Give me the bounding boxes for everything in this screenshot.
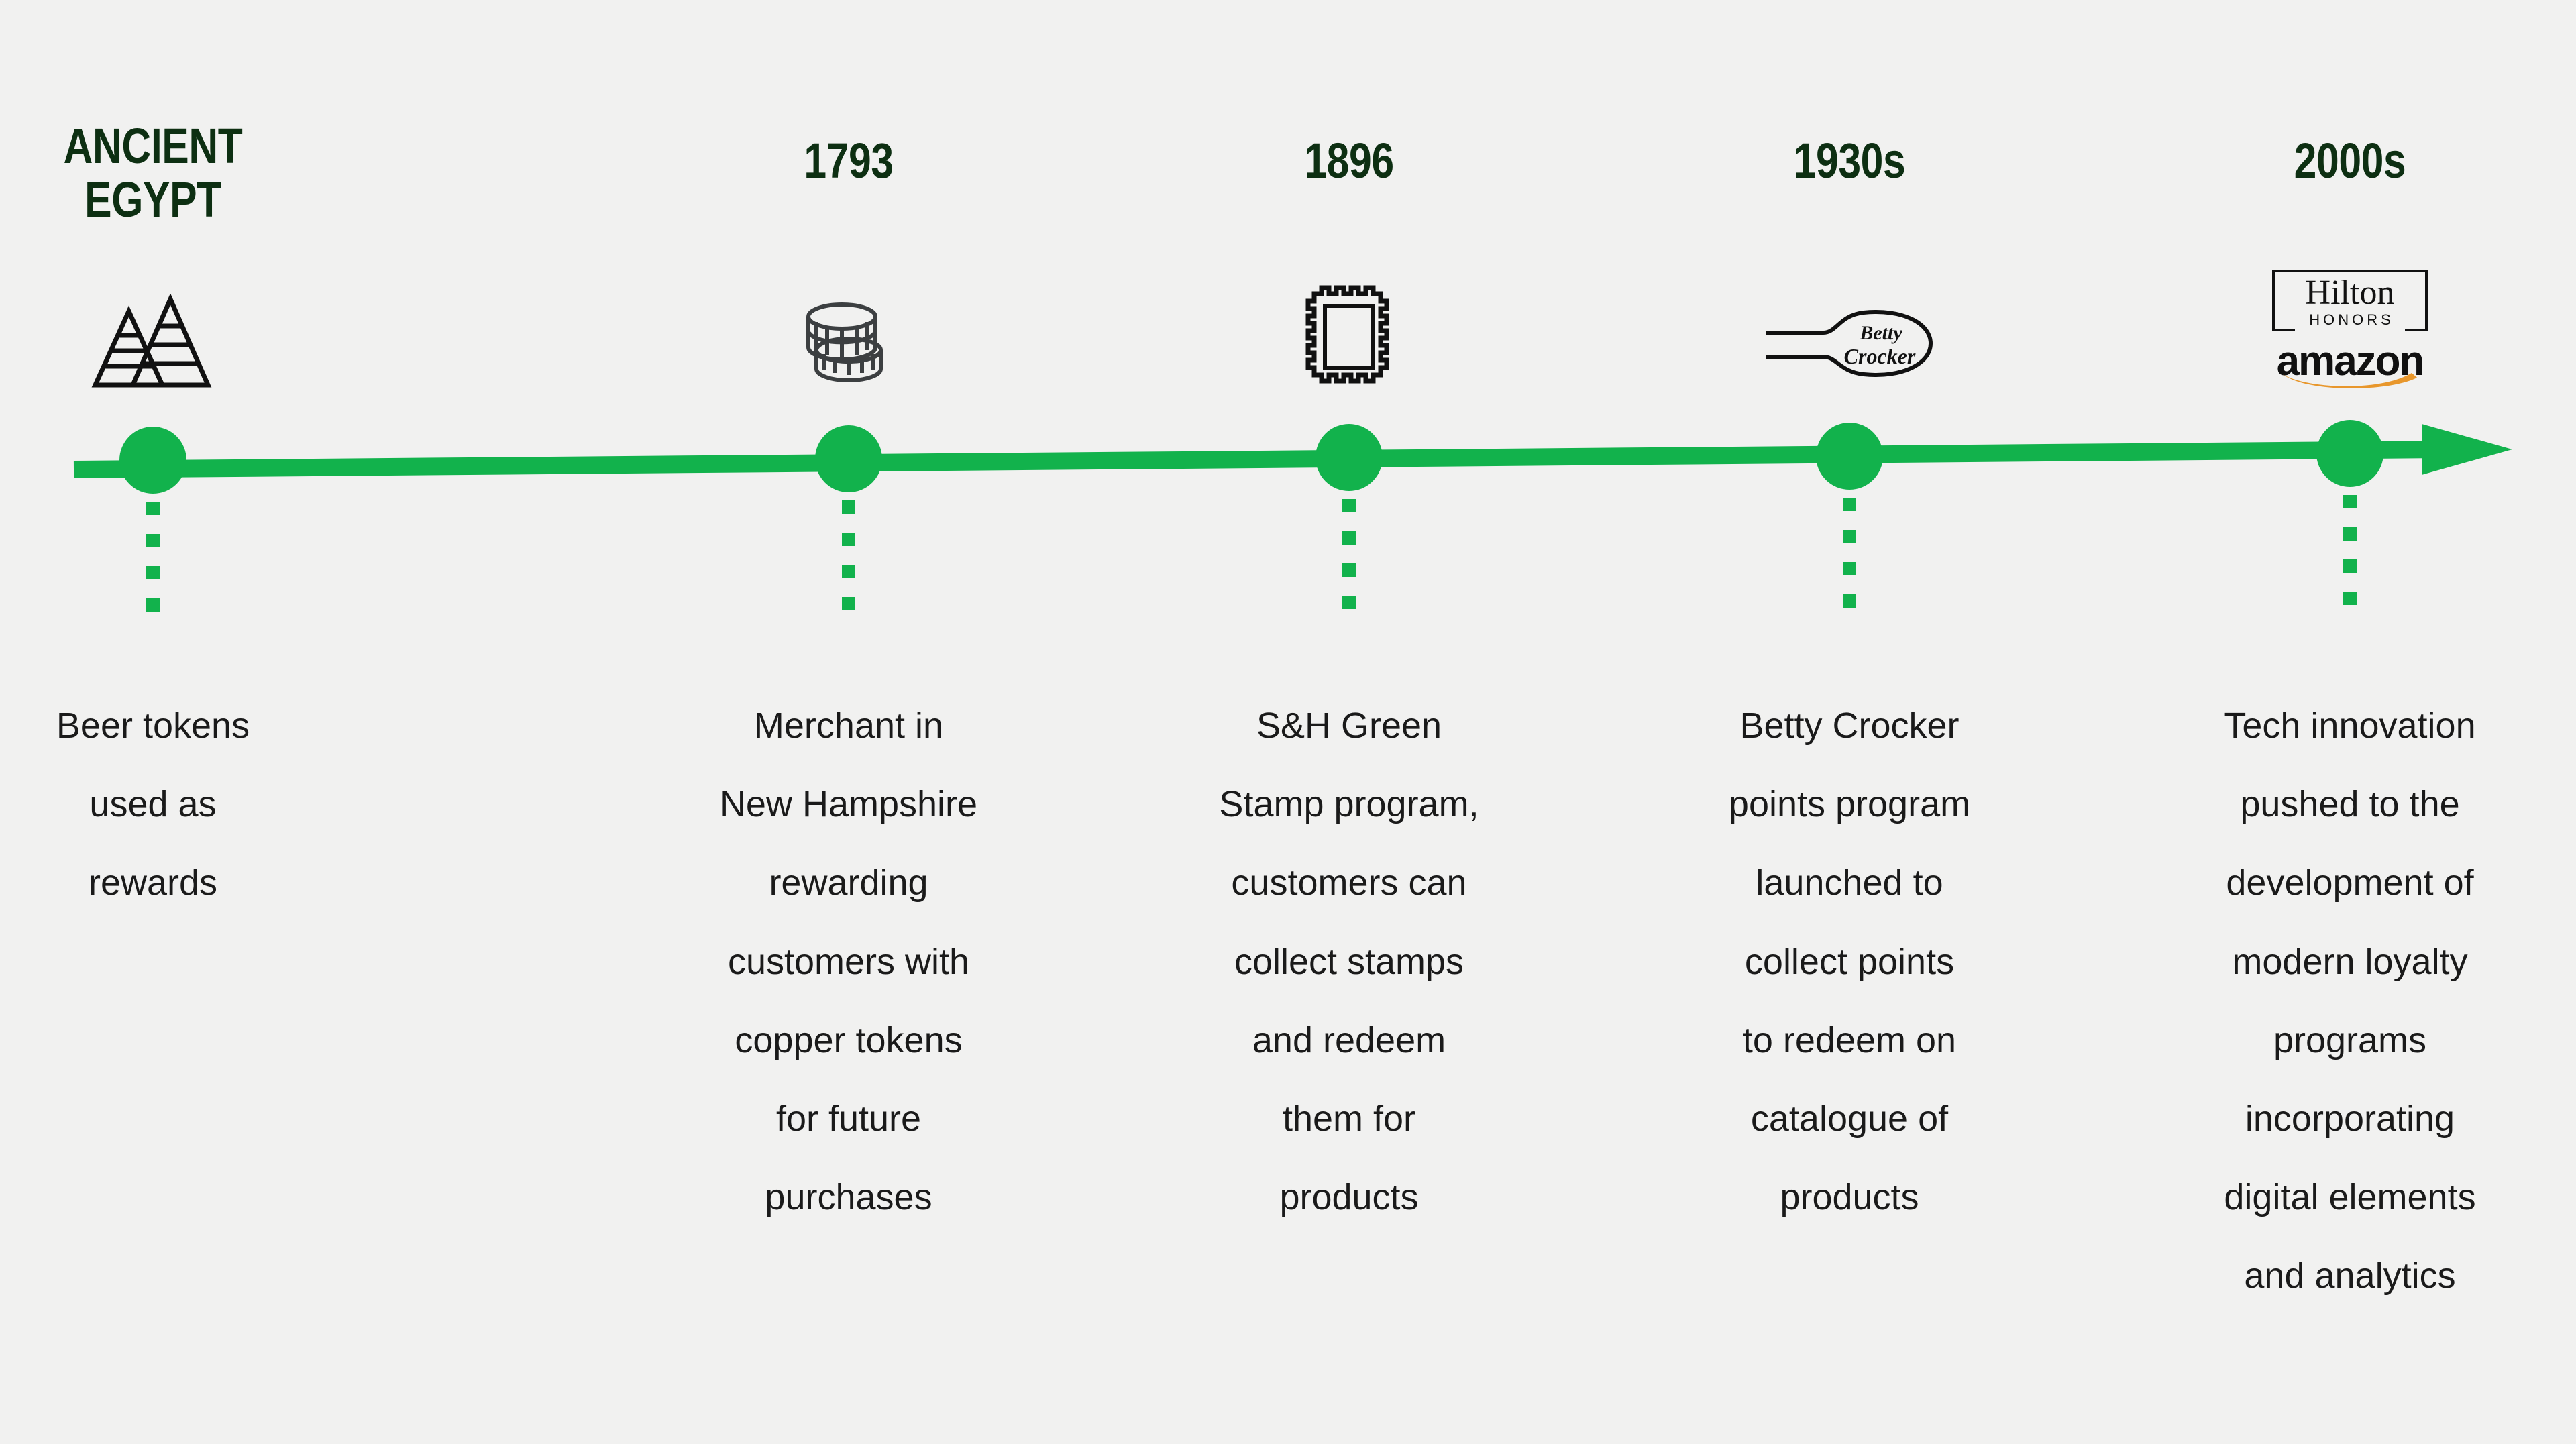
desc-line: copper tokens: [701, 1001, 996, 1080]
hilton-frame-bottom-left: [2272, 329, 2295, 331]
desc-line: development of: [2189, 844, 2511, 922]
timeline-infographic: ANCIENT EGYPT 1793 1896 1930s 2000s: [0, 0, 2576, 1444]
icon-slot-1: [782, 282, 916, 389]
milestone-description-1: Merchant in New Hampshire rewarding cust…: [701, 687, 996, 1237]
year-label-4: 2000s: [2240, 134, 2460, 188]
timeline-dot-2[interactable]: [1316, 424, 1383, 491]
desc-line: modern loyalty: [2189, 923, 2511, 1001]
milestone-year-0: ANCIENT EGYPT: [19, 119, 287, 227]
icon-slot-2: [1282, 282, 1416, 389]
timeline-dot-3[interactable]: [1816, 423, 1883, 490]
year-label-3: 1930s: [1739, 134, 1960, 188]
timeline-dot-4[interactable]: [2316, 420, 2383, 487]
desc-line: Stamp program,: [1201, 765, 1497, 844]
desc-line: S&H Green: [1201, 687, 1497, 765]
postage-stamp-icon: [1302, 282, 1396, 389]
milestone-year-2: 1896: [1215, 134, 1483, 188]
desc-line: customers with: [701, 923, 996, 1001]
betty-crocker-word-1: Betty: [1859, 322, 1902, 344]
desc-line: them for: [1201, 1080, 1497, 1158]
year-label-1: 1793: [739, 134, 959, 188]
desc-line: New Hampshire: [701, 765, 996, 844]
desc-line: Merchant in: [701, 687, 996, 765]
milestone-description-2: S&H Green Stamp program, customers can c…: [1201, 687, 1497, 1237]
milestone-year-4: 2000s: [2216, 134, 2484, 188]
icon-slot-0: [86, 282, 220, 389]
hilton-honors-logo: Hilton HONORS: [2272, 270, 2428, 331]
amazon-logo: amazon: [2271, 341, 2429, 389]
icon-slot-4: Hilton HONORS amazon: [2269, 260, 2430, 389]
desc-line: Betty Crocker: [1702, 687, 1997, 765]
year-label-0: ANCIENT EGYPT: [43, 119, 263, 227]
betty-crocker-word-2: Crocker: [1844, 344, 1916, 368]
desc-line: digital elements: [2189, 1158, 2511, 1237]
desc-line: pushed to the: [2189, 765, 2511, 844]
betty-crocker-spoon-logo: Betty Crocker: [1762, 302, 1937, 382]
desc-line: products: [1702, 1158, 1997, 1237]
timeline-line: [74, 449, 2442, 469]
desc-line: collect stamps: [1201, 923, 1497, 1001]
hilton-honors-subtitle: HONORS: [2306, 311, 2394, 329]
desc-line: products: [1201, 1158, 1497, 1237]
timeline-dot-1[interactable]: [815, 425, 882, 492]
milestone-year-1: 1793: [714, 134, 983, 188]
icon-slot-3: Betty Crocker: [1749, 288, 1950, 382]
desc-line: purchases: [701, 1158, 996, 1237]
desc-line: rewards: [19, 844, 287, 922]
hilton-frame-top: [2272, 270, 2428, 272]
desc-line: programs: [2189, 1001, 2511, 1080]
milestone-description-0: Beer tokens used as rewards: [19, 687, 287, 923]
desc-line: and redeem: [1201, 1001, 1497, 1080]
desc-line: rewarding: [701, 844, 996, 922]
pyramids-icon: [87, 294, 219, 389]
desc-line: Tech innovation: [2189, 687, 2511, 765]
amazon-smile-arrow: [2280, 370, 2420, 390]
desc-line: customers can: [1201, 844, 1497, 922]
timeline-arrow-line: [74, 424, 2512, 475]
desc-line: for future: [701, 1080, 996, 1158]
desc-line: to redeem on: [1702, 1001, 1997, 1080]
timeline-dot-0[interactable]: [119, 427, 186, 494]
desc-line: used as: [19, 765, 287, 844]
stacked-coins-icon: [788, 288, 909, 389]
desc-line: points program: [1702, 765, 1997, 844]
milestone-description-3: Betty Crocker points program launched to…: [1702, 687, 1997, 1237]
timeline-arrowhead: [2422, 424, 2512, 475]
milestone-description-4: Tech innovation pushed to the developmen…: [2189, 687, 2511, 1315]
desc-line: incorporating: [2189, 1080, 2511, 1158]
milestone-year-3: 1930s: [1715, 134, 1984, 188]
desc-line: collect points: [1702, 923, 1997, 1001]
hilton-wordmark: Hilton: [2306, 276, 2395, 311]
desc-line: and analytics: [2189, 1237, 2511, 1315]
desc-line: catalogue of: [1702, 1080, 1997, 1158]
desc-line: Beer tokens: [19, 687, 287, 765]
hilton-frame-bottom-right: [2405, 329, 2428, 331]
timeline-droppers: [153, 495, 2350, 612]
year-label-2: 1896: [1239, 134, 1459, 188]
desc-line: launched to: [1702, 844, 1997, 922]
